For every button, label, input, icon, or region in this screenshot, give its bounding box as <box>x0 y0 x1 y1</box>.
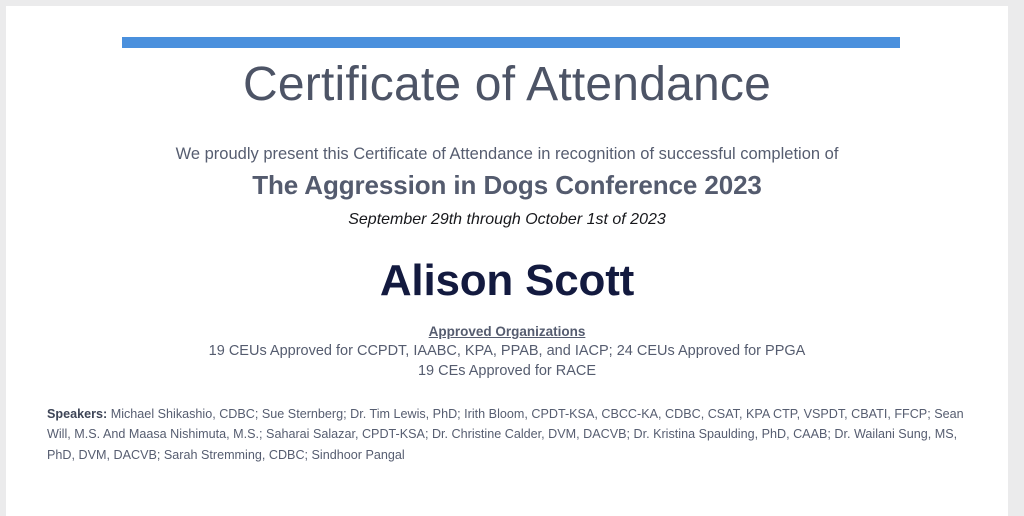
approved-organizations-heading: Approved Organizations <box>6 323 1008 341</box>
speakers-section: Speakers: Michael Shikashio, CDBC; Sue S… <box>47 404 967 465</box>
approved-organizations-line-2: 19 CEs Approved for RACE <box>6 361 1008 381</box>
speakers-label: Speakers: <box>47 407 107 421</box>
approved-organizations-section: Approved Organizations 19 CEUs Approved … <box>6 323 1008 381</box>
approved-organizations-line-1: 19 CEUs Approved for CCPDT, IAABC, KPA, … <box>6 341 1008 361</box>
presentation-statement: We proudly present this Certificate of A… <box>6 145 1008 165</box>
certificate-content: Certificate of Attendance We proudly pre… <box>6 6 1008 516</box>
event-dates: September 29th through October 1st of 20… <box>6 210 1008 229</box>
certificate-page: Certificate of Attendance We proudly pre… <box>6 6 1008 516</box>
recipient-name: Alison Scott <box>6 255 1008 308</box>
top-accent-bar <box>122 37 900 48</box>
page-title: Certificate of Attendance <box>6 57 1008 112</box>
speakers-list: Michael Shikashio, CDBC; Sue Sternberg; … <box>47 407 964 462</box>
conference-name: The Aggression in Dogs Conference 2023 <box>6 170 1008 201</box>
